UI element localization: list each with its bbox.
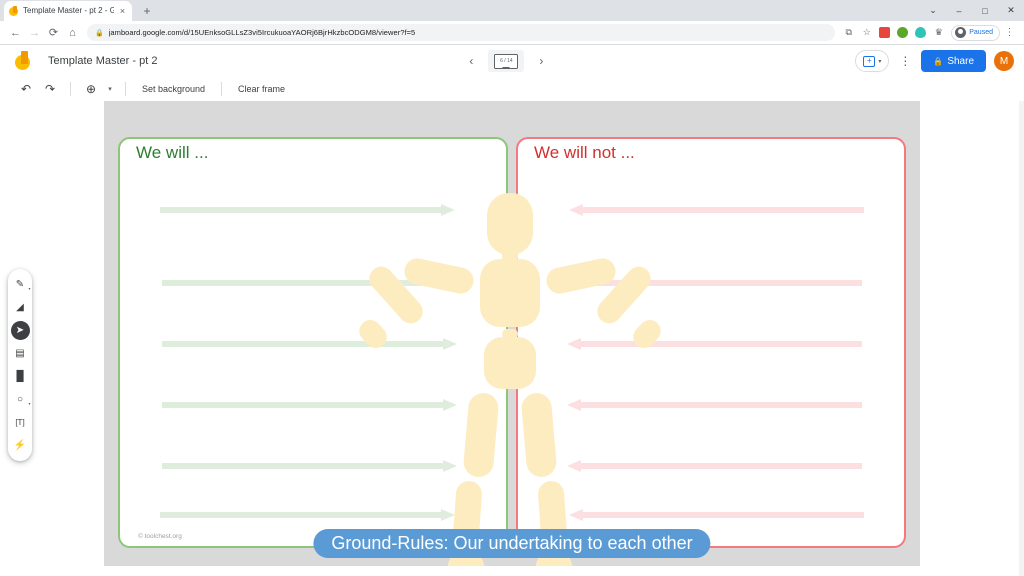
undo-button[interactable]: ↶ (14, 79, 38, 99)
address-bar[interactable]: 🔒 jamboard.google.com/d/15UEnksoGLLsZ3vi… (87, 24, 835, 41)
arrow-right-4 (162, 460, 457, 472)
lock-icon: 🔒 (933, 57, 943, 66)
panel-title-left: We will ... (136, 143, 208, 163)
jam-frame[interactable]: We will ... © toolchest.org We will not … (104, 101, 920, 566)
address-bar-url: jamboard.google.com/d/15UEnksoGLLsZ3vi5I… (109, 28, 416, 37)
tab-close-icon[interactable]: × (118, 7, 127, 16)
window-controls: ⌄ – □ ✕ (920, 0, 1024, 21)
app-header: Template Master - pt 2 ‹ 6 / 14 › + ▾ ⋮ (0, 45, 1024, 77)
present-icon: + (863, 56, 875, 67)
jamboard-logo-icon (14, 51, 32, 71)
browser-toolbar: ← → ⟳ ⌂ 🔒 jamboard.google.com/d/15UEnkso… (0, 21, 1024, 45)
image-tool[interactable]: █ (11, 367, 30, 386)
panel-we-will-not[interactable]: We will not ... (516, 137, 906, 548)
toolbar-divider (125, 82, 126, 96)
back-icon[interactable]: ← (6, 23, 25, 42)
more-options-icon[interactable]: ⋮ (897, 54, 913, 68)
arrow-left-4 (567, 460, 862, 472)
share-button-label: Share (947, 56, 974, 67)
panel-title-right: We will not ... (534, 143, 635, 163)
forward-icon[interactable]: → (25, 23, 44, 42)
lock-icon: 🔒 (95, 29, 104, 37)
extension-teal-icon[interactable] (912, 24, 929, 41)
browser-window: Template Master - pt 2 - Google × + ⌄ – … (0, 0, 1024, 576)
shape-tool[interactable]: ○▾ (11, 390, 30, 409)
profile-status-label: Paused (969, 29, 993, 36)
panel-we-will[interactable]: We will ... © toolchest.org (118, 137, 508, 548)
profile-chip[interactable]: Paused (951, 25, 1000, 41)
arrow-left-bottom (569, 509, 864, 521)
zoom-chevron-down-icon[interactable]: ▾ (103, 85, 117, 93)
close-window-icon[interactable]: ✕ (998, 0, 1024, 21)
frame-counter: 6 / 14 (500, 59, 513, 64)
sticky-note-tool[interactable]: ▤ (11, 344, 30, 363)
minimize-icon[interactable]: – (946, 0, 972, 21)
bookmark-star-icon[interactable]: ☆ (858, 24, 875, 41)
jamboard-favicon-icon (9, 6, 19, 16)
reload-icon[interactable]: ⟳ (44, 23, 63, 42)
new-tab-button[interactable]: + (137, 1, 157, 21)
user-avatar[interactable]: M (994, 51, 1014, 71)
set-background-button[interactable]: Set background (134, 84, 213, 94)
toolbar-divider (221, 82, 222, 96)
arrow-right-2 (162, 338, 457, 350)
tab-strip: Template Master - pt 2 - Google × + ⌄ – … (0, 0, 1024, 21)
app-toolbar: ↶ ↷ ⊕ ▾ Set background Clear frame (0, 77, 1024, 101)
browser-tab[interactable]: Template Master - pt 2 - Google × (4, 1, 132, 21)
select-tool[interactable]: ➤ (11, 321, 30, 340)
browser-menu-icon[interactable]: ⋮ (1001, 24, 1018, 41)
redo-button[interactable]: ↷ (38, 79, 62, 99)
eraser-tool[interactable]: ◢ (11, 298, 30, 317)
frame-navigation: ‹ 6 / 14 › (464, 50, 548, 72)
copyright-label: © toolchest.org (138, 533, 182, 540)
ground-rules-banner[interactable]: Ground-Rules: Our undertaking to each ot… (313, 529, 710, 558)
text-box-tool[interactable]: [T] (11, 413, 30, 432)
extension-red-icon[interactable] (876, 24, 893, 41)
tool-rail: ✎▾ ◢ ➤ ▤ █ ○▾ [T] ⚡ (8, 269, 32, 461)
arrow-right-bottom (160, 509, 455, 521)
home-icon[interactable]: ⌂ (63, 23, 82, 42)
arrow-right-top (160, 204, 455, 216)
canvas-area: ✎▾ ◢ ➤ ▤ █ ○▾ [T] ⚡ We will ... © toolch… (0, 101, 1024, 576)
share-page-icon[interactable]: ⧉ (840, 24, 857, 41)
maximize-icon[interactable]: □ (972, 0, 998, 21)
toolbar-divider (70, 82, 71, 96)
arrow-right-3 (162, 399, 457, 411)
chevron-down-icon[interactable]: ▾ (878, 58, 881, 65)
pen-tool[interactable]: ✎▾ (11, 275, 30, 294)
avatar (955, 27, 966, 38)
next-frame-button[interactable]: › (534, 54, 548, 68)
page-title[interactable]: Template Master - pt 2 (48, 55, 157, 67)
present-button[interactable]: + ▾ (855, 50, 889, 72)
puzzle-icon[interactable]: ♛ (930, 24, 947, 41)
tab-title: Template Master - pt 2 - Google (23, 1, 114, 21)
jamboard-app: Template Master - pt 2 ‹ 6 / 14 › + ▾ ⋮ (0, 45, 1024, 576)
share-button[interactable]: 🔒 Share (921, 50, 986, 72)
laser-tool[interactable]: ⚡ (11, 436, 30, 455)
evernote-icon[interactable] (894, 24, 911, 41)
arrow-left-1 (567, 277, 862, 289)
arrow-left-2 (567, 338, 862, 350)
chevron-down-icon[interactable]: ⌄ (920, 0, 946, 21)
frame-bar-button[interactable]: 6 / 14 (488, 50, 524, 72)
arrow-left-top (569, 204, 864, 216)
arrow-left-3 (567, 399, 862, 411)
canvas-scrollbar[interactable] (1019, 101, 1024, 576)
extension-area: ⧉ ☆ ♛ Paused ⋮ (840, 24, 1018, 41)
arrow-right-1 (162, 277, 457, 289)
frame-bar-icon: 6 / 14 (494, 54, 518, 69)
previous-frame-button[interactable]: ‹ (464, 54, 478, 68)
clear-frame-button[interactable]: Clear frame (230, 84, 293, 94)
zoom-button[interactable]: ⊕ (79, 79, 103, 99)
